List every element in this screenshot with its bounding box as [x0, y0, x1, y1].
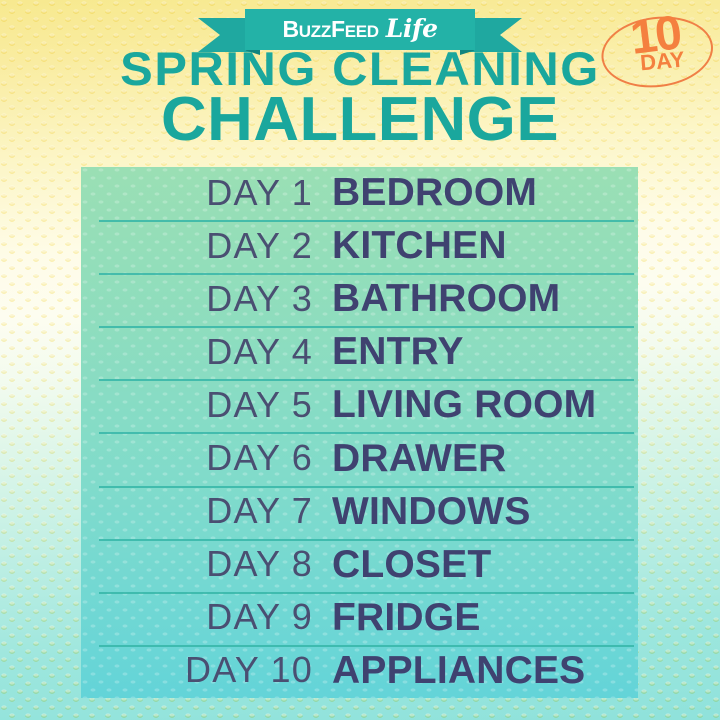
schedule-row: DAY 7WINDOWS [81, 486, 638, 539]
buzzfeed-f: F [331, 16, 345, 42]
poster-canvas: BUZZFEED Life SPRING CLEANING CHALLENGE … [0, 0, 720, 720]
day-label: DAY 3 [81, 281, 313, 317]
room-label: WINDOWS [332, 492, 531, 531]
schedule-row: DAY 3BATHROOM [81, 273, 638, 326]
day-label: DAY 2 [81, 228, 313, 264]
buzzfeed-eed: EED [345, 22, 379, 41]
buzzfeed-b: B [282, 16, 298, 42]
buzzfeed-uzz: UZZ [299, 22, 331, 41]
schedule-rows: DAY 1BEDROOMDAY 2KITCHENDAY 3BATHROOMDAY… [81, 167, 638, 698]
room-label: KITCHEN [332, 226, 507, 265]
buzzfeed-wordmark: BUZZFEED [282, 18, 378, 41]
schedule-row: DAY 1BEDROOM [81, 167, 638, 220]
day-label: DAY 8 [81, 546, 313, 582]
day-label: DAY 9 [81, 599, 313, 635]
schedule-row: DAY 8CLOSET [81, 539, 638, 592]
day-label: DAY 4 [81, 334, 313, 370]
room-label: BEDROOM [332, 173, 537, 212]
schedule-row: DAY 9FRIDGE [81, 592, 638, 645]
room-label: ENTRY [332, 332, 464, 371]
room-label: APPLIANCES [332, 651, 585, 690]
day-label: DAY 5 [81, 387, 313, 423]
day-label: DAY 7 [81, 493, 313, 529]
room-label: DRAWER [332, 439, 507, 478]
schedule-row: DAY 10APPLIANCES [81, 645, 638, 698]
schedule-row: DAY 5LIVING ROOM [81, 379, 638, 432]
life-script-wordmark: Life [386, 16, 438, 41]
day-label: DAY 1 [81, 175, 313, 211]
ten-day-badge: 10 DAY [592, 0, 720, 104]
schedule-row: DAY 2KITCHEN [81, 220, 638, 273]
schedule-row: DAY 4ENTRY [81, 326, 638, 379]
day-label: DAY 10 [81, 652, 313, 688]
buzzfeed-life-logo: BUZZFEED Life [282, 16, 437, 41]
room-label: FRIDGE [332, 598, 481, 637]
schedule-card: DAY 1BEDROOMDAY 2KITCHENDAY 3BATHROOMDAY… [81, 167, 638, 698]
day-label: DAY 6 [81, 440, 313, 476]
schedule-row: DAY 6DRAWER [81, 432, 638, 485]
room-label: CLOSET [332, 545, 491, 584]
room-label: LIVING ROOM [332, 385, 596, 424]
room-label: BATHROOM [332, 279, 560, 318]
